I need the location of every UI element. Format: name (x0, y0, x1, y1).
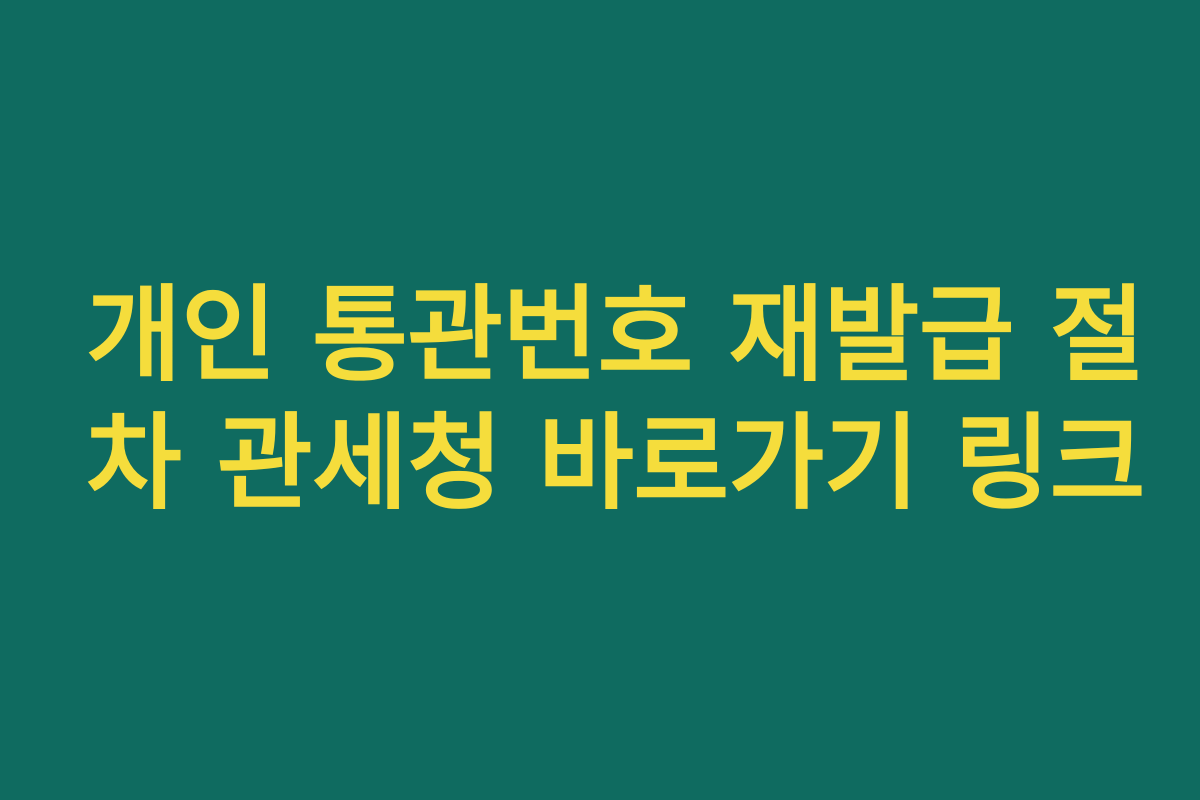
headline-line-1: 개인 통관번호 재발급 절 (86, 272, 1111, 400)
page-title: 개인 통관번호 재발급 절차 관세청 바로가기 링크 개인 통관번호 재발급 절… (86, 272, 1111, 528)
banner-card: 개인 통관번호 재발급 절차 관세청 바로가기 링크 개인 통관번호 재발급 절… (0, 0, 1200, 800)
headline-line-2: 차 관세청 바로가기 링크 (86, 400, 1111, 528)
